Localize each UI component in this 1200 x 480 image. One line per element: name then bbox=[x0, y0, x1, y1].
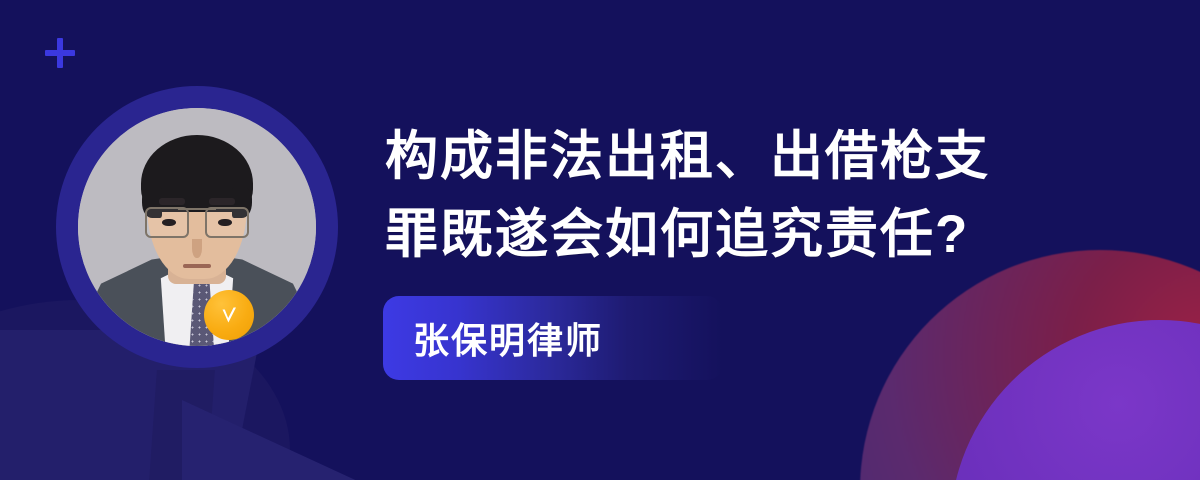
verified-check-icon bbox=[204, 290, 254, 340]
avatar bbox=[56, 86, 338, 368]
author-name-label: 张保明律师 bbox=[413, 312, 603, 364]
author-name-badge: 张保明律师 bbox=[383, 296, 723, 380]
avatar-photo bbox=[78, 108, 316, 346]
headline-block: 构成非法出租、出借枪支 罪既遂会如何追究责任? bbox=[385, 118, 1085, 274]
plus-icon bbox=[45, 38, 75, 68]
purple-blob-decoration bbox=[950, 320, 1200, 480]
crimson-blob-decoration bbox=[860, 250, 1200, 480]
wedge-shape-decoration bbox=[182, 400, 442, 480]
column-shape-decoration bbox=[147, 370, 215, 480]
page-title: 构成非法出租、出借枪支 罪既遂会如何追究责任? bbox=[385, 118, 1085, 274]
lawyer-qa-banner: 构成非法出租、出借枪支 罪既遂会如何追究责任? 张保明律师 bbox=[0, 0, 1200, 480]
